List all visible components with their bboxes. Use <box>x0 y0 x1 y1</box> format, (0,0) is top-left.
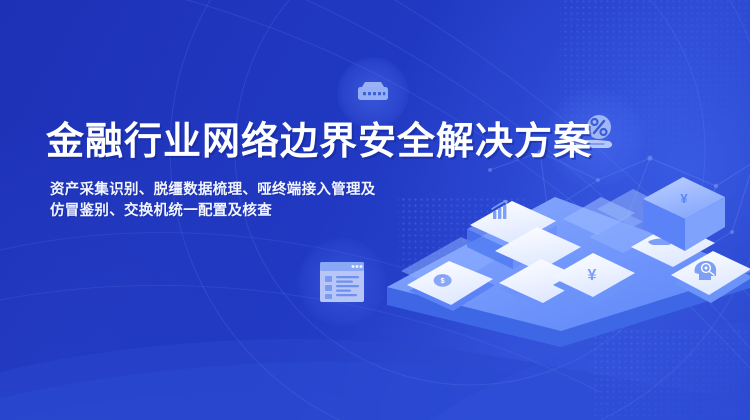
subtitle-line-2: 仿冒鉴别、交换机统一配置及核查 <box>50 201 586 222</box>
document-list-icon <box>317 259 367 305</box>
svg-text:$: $ <box>441 276 445 285</box>
svg-text:¥: ¥ <box>680 191 688 206</box>
banner-copy: 金融行业网络边界安全解决方案 资产采集识别、脱缰数据梳理、哑终端接入管理及 仿冒… <box>46 118 586 222</box>
svg-text:¥: ¥ <box>588 267 597 284</box>
page-subtitle: 资产采集识别、脱缰数据梳理、哑终端接入管理及 仿冒鉴别、交换机统一配置及核查 <box>50 180 586 222</box>
page-title: 金融行业网络边界安全解决方案 <box>46 118 586 166</box>
subtitle-line-1: 资产采集识别、脱缰数据梳理、哑终端接入管理及 <box>50 180 586 201</box>
badge-document <box>298 238 386 326</box>
banner-root: $ <box>0 0 750 420</box>
router-icon <box>353 73 393 113</box>
